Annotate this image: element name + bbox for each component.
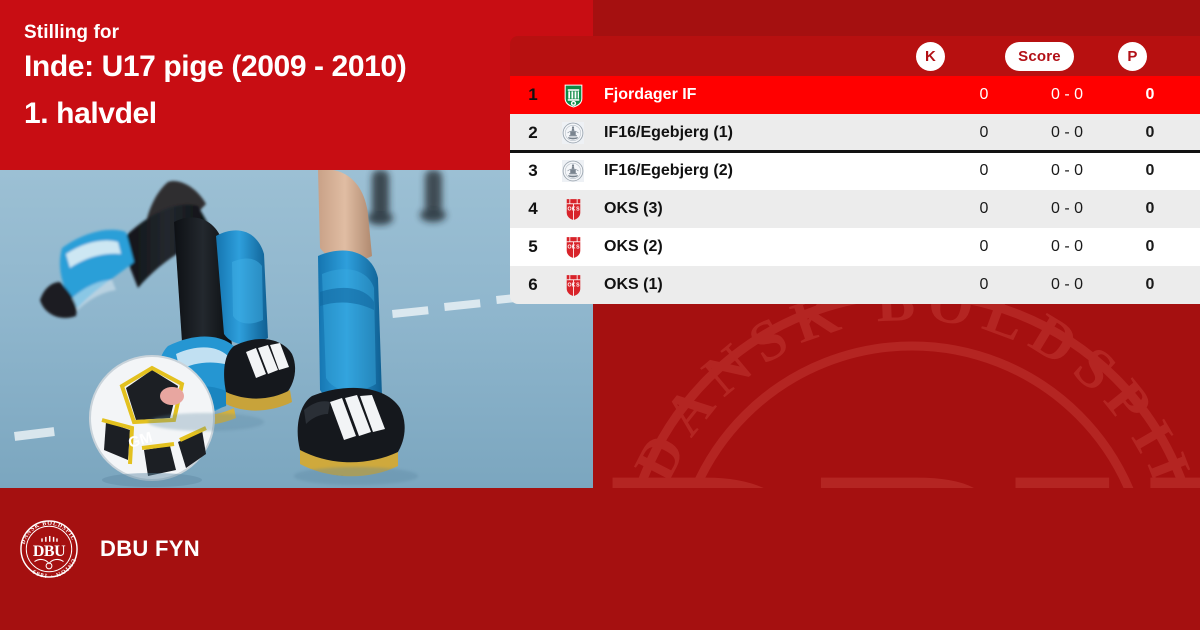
table-row[interactable]: 3IF16/Egebjerg (2)00 - 00 <box>510 152 1200 190</box>
points-value: 0 <box>1115 162 1185 180</box>
goal-score-value: 0 - 0 <box>1019 86 1115 104</box>
goal-score-value: 0 - 0 <box>1019 200 1115 218</box>
table-row[interactable]: 6OKS (1)00 - 00 <box>510 266 1200 304</box>
points-value: 0 <box>1115 238 1185 256</box>
team-name[interactable]: OKS (3) <box>590 200 949 218</box>
matches-played-value: 0 <box>949 86 1019 104</box>
standings-table: K Score P 1Fjordager IF00 - 002IF16/Egeb… <box>510 36 1200 304</box>
table-row[interactable]: 4OKS (3)00 - 00 <box>510 190 1200 228</box>
svg-text:DBU: DBU <box>612 407 1200 488</box>
team-name[interactable]: OKS (1) <box>590 276 949 294</box>
dbu-crest-watermark-icon: . DBU DANSK BOLDSPIL UNION 1889 <box>612 282 1200 488</box>
standings-header-row: K Score P <box>510 36 1200 76</box>
team-name[interactable]: IF16/Egebjerg (1) <box>590 124 949 142</box>
organization-name: DBU FYN <box>100 536 200 562</box>
hero-photo: GM <box>0 170 593 488</box>
rank-number: 4 <box>510 199 556 219</box>
svg-text:DBU: DBU <box>33 543 66 560</box>
rank-number: 1 <box>510 85 556 105</box>
goal-score-value: 0 - 0 <box>1019 276 1115 294</box>
oks-crest-icon <box>556 197 590 221</box>
if16-crest-icon <box>556 160 590 182</box>
goal-score-value: 0 - 0 <box>1019 124 1115 142</box>
rank-number: 3 <box>510 161 556 181</box>
footer-bar: DANSK BOLDSPIL UNION · 1889 DBU DBU FYN <box>0 488 1200 630</box>
rank-number: 5 <box>510 237 556 257</box>
matches-played-value: 0 <box>949 200 1019 218</box>
futsal-photo-illustration: GM <box>0 170 593 488</box>
team-name[interactable]: IF16/Egebjerg (2) <box>590 162 949 180</box>
points-value: 0 <box>1115 200 1185 218</box>
points-value: 0 <box>1115 124 1185 142</box>
matches-played-value: 0 <box>949 124 1019 142</box>
goal-score-value: 0 - 0 <box>1019 162 1115 180</box>
dbu-logo-icon: DANSK BOLDSPIL UNION · 1889 DBU <box>20 520 78 578</box>
points-value: 0 <box>1115 276 1185 294</box>
team-name[interactable]: Fjordager IF <box>590 86 949 104</box>
rank-number: 6 <box>510 275 556 295</box>
goal-score-value: 0 - 0 <box>1019 238 1115 256</box>
table-row[interactable]: 1Fjordager IF00 - 00 <box>510 76 1200 114</box>
points-value: 0 <box>1115 86 1185 104</box>
column-header-k: K <box>916 42 945 71</box>
kicker-label: Stilling for <box>24 22 119 44</box>
oks-crest-icon <box>556 235 590 259</box>
oks-crest-icon <box>556 273 590 297</box>
team-name[interactable]: OKS (2) <box>590 238 949 256</box>
page-title-line-2: 1. halvdel <box>24 97 157 131</box>
title-panel: Stilling for Inde: U17 pige (2009 - 2010… <box>0 0 593 170</box>
table-row[interactable]: 5OKS (2)00 - 00 <box>510 228 1200 266</box>
svg-text:DANSK BOLDSPIL: DANSK BOLDSPIL <box>621 282 1200 488</box>
table-row[interactable]: 2IF16/Egebjerg (1)00 - 00 <box>510 114 1200 152</box>
rank-number: 2 <box>510 123 556 143</box>
matches-played-value: 0 <box>949 238 1019 256</box>
column-header-p: P <box>1118 42 1147 71</box>
if16-crest-icon <box>556 122 590 144</box>
fjordager-crest-icon <box>556 83 590 108</box>
page-title-line-1: Inde: U17 pige (2009 - 2010) <box>24 50 406 84</box>
matches-played-value: 0 <box>949 162 1019 180</box>
column-header-score: Score <box>1005 42 1074 71</box>
matches-played-value: 0 <box>949 276 1019 294</box>
